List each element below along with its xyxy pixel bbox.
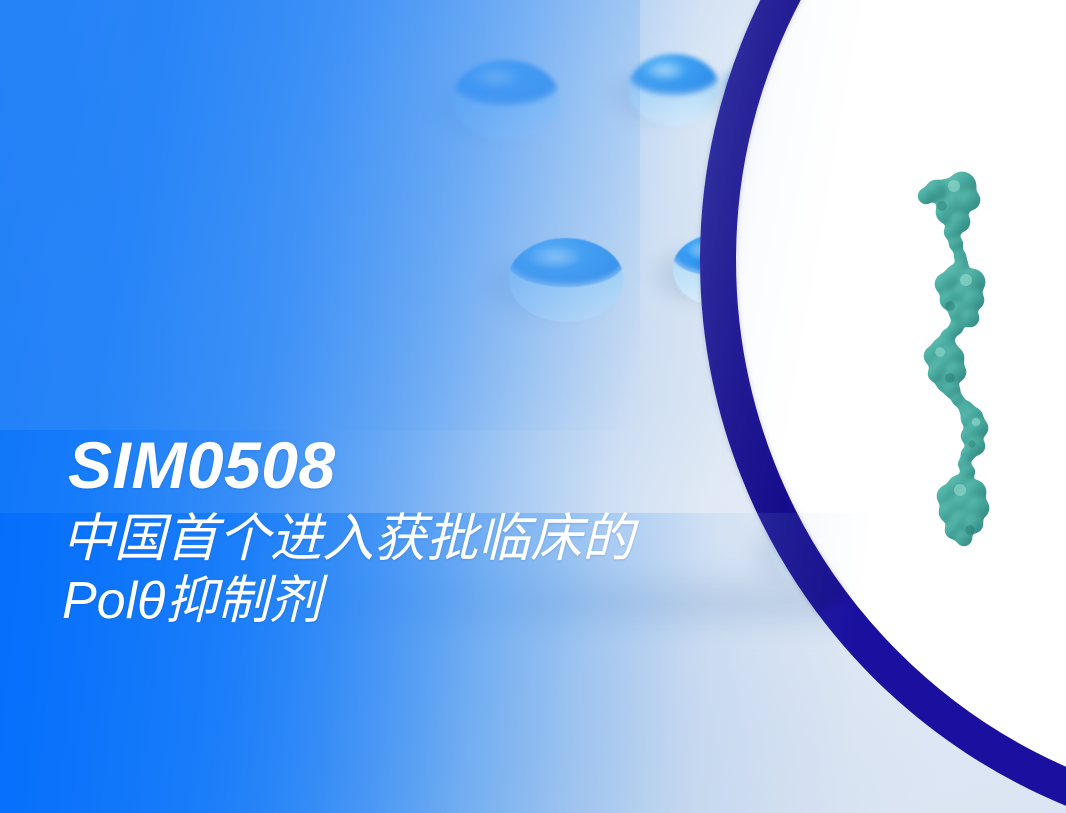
pill-bottom-right [962, 632, 1066, 712]
tablet-body [452, 60, 560, 140]
protein-surface-icon [890, 160, 1030, 580]
product-name: SIM0508 [68, 432, 822, 498]
tablet-body [508, 238, 624, 322]
pill-mid-right [672, 234, 766, 306]
pill-mid-left [508, 238, 624, 322]
product-key-visual-banner: SIM0508 中国首个进入获批临床的 Polθ抑制剂 [0, 0, 1066, 813]
tablet-body [724, 66, 798, 122]
subtitle-line-1: 中国首个进入获批临床的 [62, 508, 822, 570]
pill-top-far-right [724, 66, 798, 122]
headline-block: SIM0508 中国首个进入获批临床的 Polθ抑制剂 [62, 432, 822, 633]
tablet-body [672, 234, 766, 306]
subtitle-line-2: Polθ抑制剂 [62, 570, 822, 632]
tablet-highlight [643, 60, 687, 82]
tablet-body [962, 632, 1066, 712]
tablet-highlight [979, 638, 1029, 662]
subtitle: 中国首个进入获批临床的 Polθ抑制剂 [62, 508, 822, 633]
tablet-highlight [736, 70, 772, 87]
tablet-highlight [687, 240, 732, 262]
tablet-highlight [469, 66, 521, 90]
poltheta-protein-3d-model [890, 160, 1030, 580]
pill-top-left [452, 60, 560, 140]
tablet-highlight [527, 245, 583, 270]
